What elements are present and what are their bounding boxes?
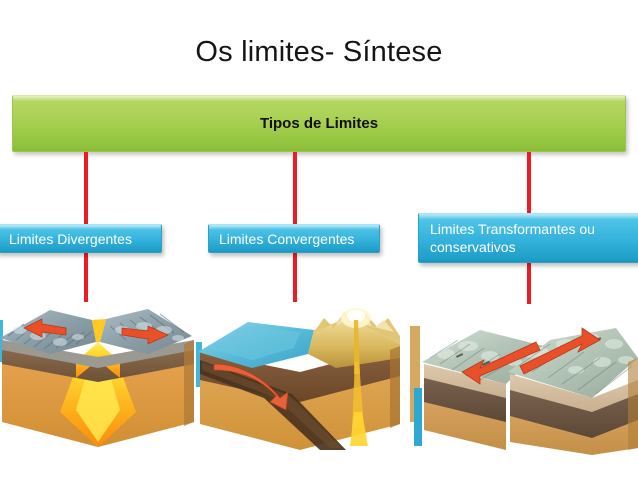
transform-block-svg bbox=[410, 300, 638, 455]
illustration-divergent-boundary bbox=[0, 302, 194, 454]
illustration-convergent-boundary bbox=[196, 302, 401, 454]
category-label-divergentes: Limites Divergentes bbox=[0, 225, 161, 248]
category-box-limites-divergentes[interactable]: Limites Divergentes bbox=[0, 224, 162, 253]
illustration-transform-boundary bbox=[410, 300, 638, 455]
master-box-label: Tipos de Limites bbox=[260, 115, 378, 132]
convergent-block-svg bbox=[196, 302, 401, 454]
category-box-limites-convergentes[interactable]: Limites Convergentes bbox=[208, 224, 380, 253]
category-label-transformantes: Limites Transformantes ou conservativos bbox=[419, 214, 638, 256]
category-label-convergentes: Limites Convergentes bbox=[209, 225, 379, 248]
category-box-limites-transformantes[interactable]: Limites Transformantes ou conservativos bbox=[418, 213, 638, 263]
page-title: Os limites- Síntese bbox=[0, 36, 638, 69]
slide-canvas: Os limites- Síntese Tipos de Limites Lim… bbox=[0, 0, 638, 479]
divergent-block-svg bbox=[0, 302, 194, 454]
master-box-tipos-de-limites[interactable]: Tipos de Limites bbox=[12, 95, 626, 152]
